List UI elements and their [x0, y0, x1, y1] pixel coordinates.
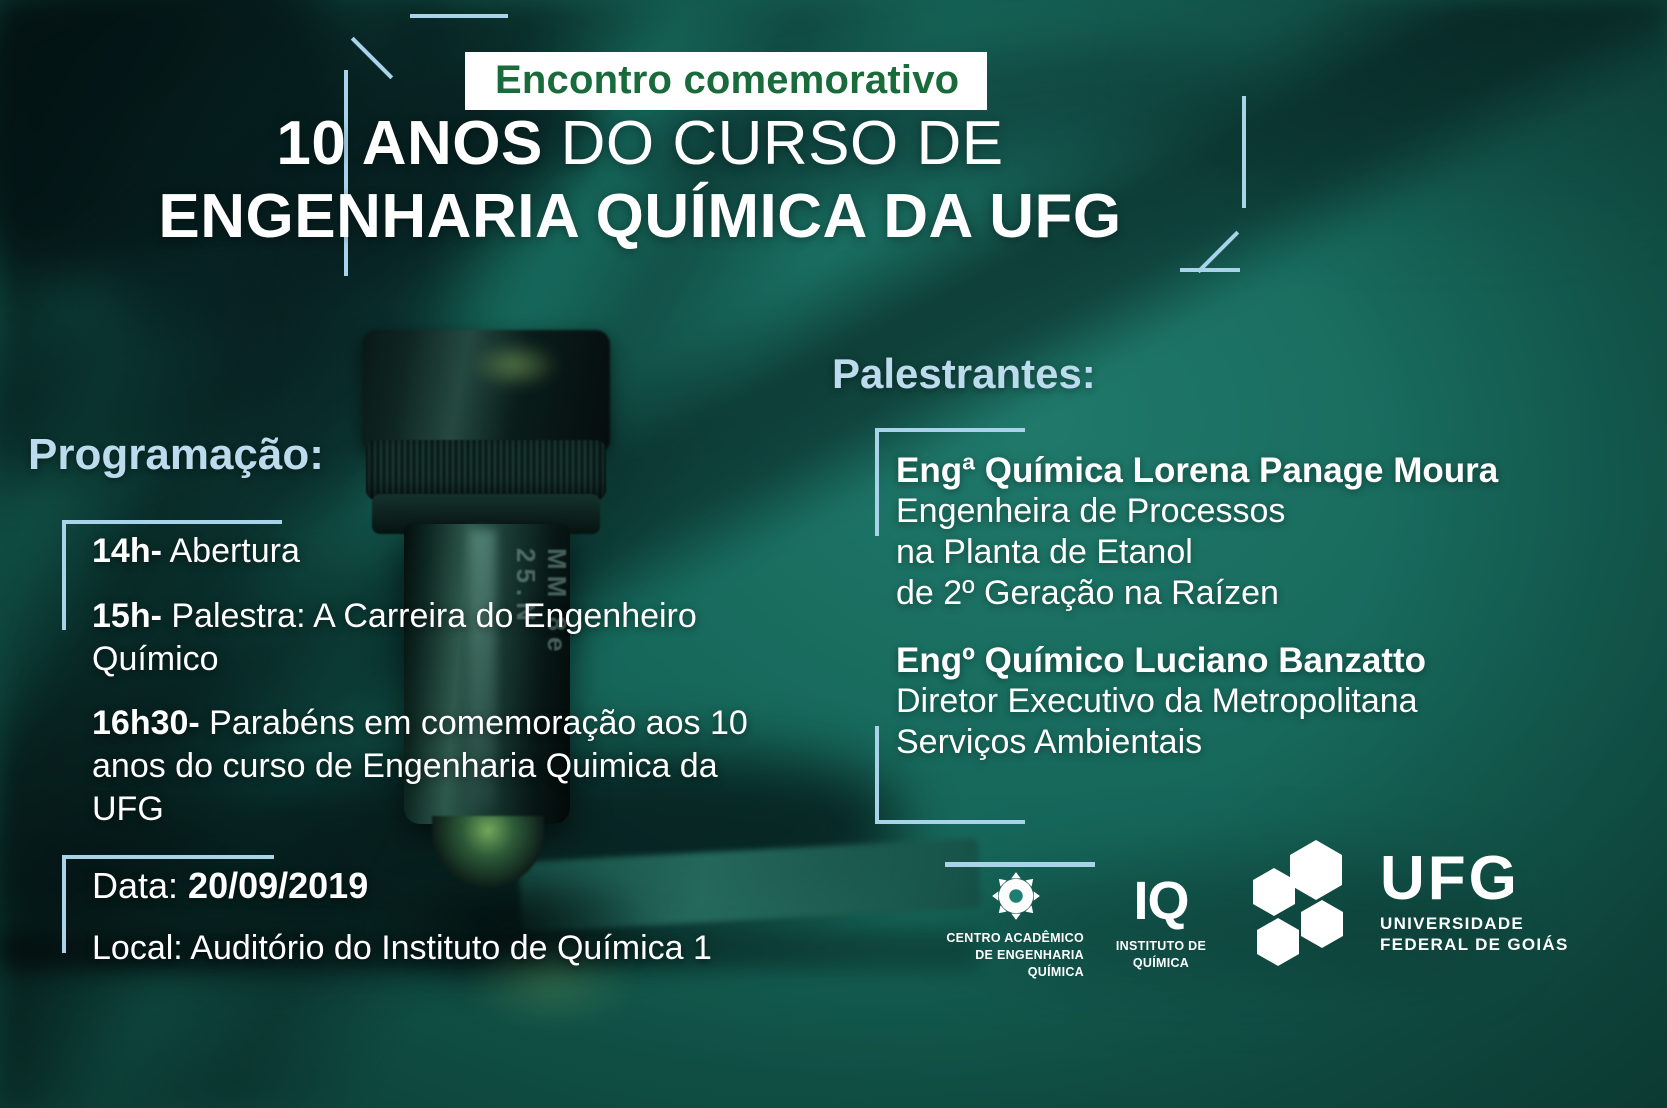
logo-instituto-quimica: IQ INSTITUTO DE QUÍMICA: [1096, 874, 1226, 972]
speaker-entry: Engª Química Lorena Panage Moura Engenhe…: [896, 450, 1596, 614]
schedule-item: 14h- Abertura: [92, 530, 792, 573]
speaker-role-line: de 2º Geração na Raízen: [896, 573, 1596, 614]
logo-instituto-quimica-caption: INSTITUTO DE QUÍMICA: [1096, 938, 1226, 972]
ca-caption-line-1: CENTRO ACADÊMICO: [900, 930, 1084, 947]
iq-caption-line-1: INSTITUTO DE: [1096, 938, 1226, 955]
speaker-name: Engª Química Lorena Panage Moura: [896, 450, 1596, 491]
ufg-fullname: UNIVERSIDADE FEDERAL DE GOIÁS: [1380, 913, 1569, 957]
title-line-1: 10 ANOS DO CURSO DE: [0, 112, 1280, 175]
event-date-value: 20/09/2019: [188, 865, 368, 906]
speaker-role-line: na Planta de Etanol: [896, 532, 1596, 573]
title-line-2: ENGENHARIA QUÍMICA DA UFG: [0, 185, 1280, 248]
title-course-prefix: DO CURSO DE: [543, 109, 1004, 178]
ufg-wordmark: UFG UNIVERSIDADE FEDERAL DE GOIÁS: [1380, 844, 1569, 956]
speaker-entry: Engº Químico Luciano Banzatto Diretor Ex…: [896, 640, 1596, 763]
event-poster: MM 8e 25.N Encontro comemorativo 10 ANOS…: [0, 0, 1667, 1108]
ca-caption-line-2: DE ENGENHARIA: [900, 947, 1084, 964]
iq-monogram: IQ: [1096, 874, 1226, 928]
event-info: Data: 20/09/2019 Local: Auditório do Ins…: [92, 865, 852, 968]
gear-icon: [900, 870, 1090, 922]
title-years: 10 ANOS: [276, 109, 543, 178]
schedule-heading: Programação:: [28, 430, 324, 480]
ufg-acronym: UFG: [1380, 850, 1569, 909]
logo-ufg: UFG UNIVERSIDADE FEDERAL DE GOIÁS: [1238, 834, 1578, 966]
speakers-heading: Palestrantes:: [832, 350, 1096, 398]
ufg-fullname-line-1: UNIVERSIDADE: [1380, 913, 1569, 935]
eyebrow-text: Encontro comemorativo: [495, 60, 959, 100]
speaker-role-line: Serviços Ambientais: [896, 722, 1596, 763]
eyebrow-banner: Encontro comemorativo: [465, 52, 987, 110]
schedule-item-text: Abertura: [162, 532, 300, 570]
iq-caption-line-2: QUÍMICA: [1096, 955, 1226, 972]
schedule-item-time: 15h-: [92, 597, 162, 635]
hexagon-cluster-icon: [1238, 834, 1366, 966]
logo-row-bracket-icon: [945, 862, 1095, 870]
event-date: Data: 20/09/2019: [92, 865, 852, 907]
ufg-fullname-line-2: FEDERAL DE GOIÁS: [1380, 934, 1569, 956]
ca-caption-line-3: QUÍMICA: [900, 964, 1084, 981]
logo-row: CENTRO ACADÊMICO DE ENGENHARIA QUÍMICA I…: [900, 870, 1580, 1050]
logo-centro-academico-caption: CENTRO ACADÊMICO DE ENGENHARIA QUÍMICA: [900, 930, 1090, 980]
schedule-item-text: Palestra: A Carreira do Engenheiro Quími…: [92, 597, 697, 678]
logo-centro-academico: CENTRO ACADÊMICO DE ENGENHARIA QUÍMICA: [900, 870, 1090, 980]
schedule-item: 15h- Palestra: A Carreira do Engenheiro …: [92, 595, 792, 681]
event-location: Local: Auditório do Instituto de Química…: [92, 929, 852, 968]
page-title: 10 ANOS DO CURSO DE ENGENHARIA QUÍMICA D…: [0, 112, 1280, 248]
schedule-item-time: 16h30-: [92, 704, 200, 742]
speaker-name: Engº Químico Luciano Banzatto: [896, 640, 1596, 681]
speaker-role-line: Diretor Executivo da Metropolitana: [896, 681, 1596, 722]
speaker-role-line: Engenheira de Processos: [896, 491, 1596, 532]
schedule-item-time: 14h-: [92, 532, 162, 570]
schedule-item: 16h30- Parabéns em comemoração aos 10 an…: [92, 702, 792, 830]
speakers-list: Engª Química Lorena Panage Moura Engenhe…: [896, 450, 1596, 789]
event-date-label: Data:: [92, 865, 188, 906]
schedule-list: 14h- Abertura 15h- Palestra: A Carreira …: [92, 530, 792, 853]
